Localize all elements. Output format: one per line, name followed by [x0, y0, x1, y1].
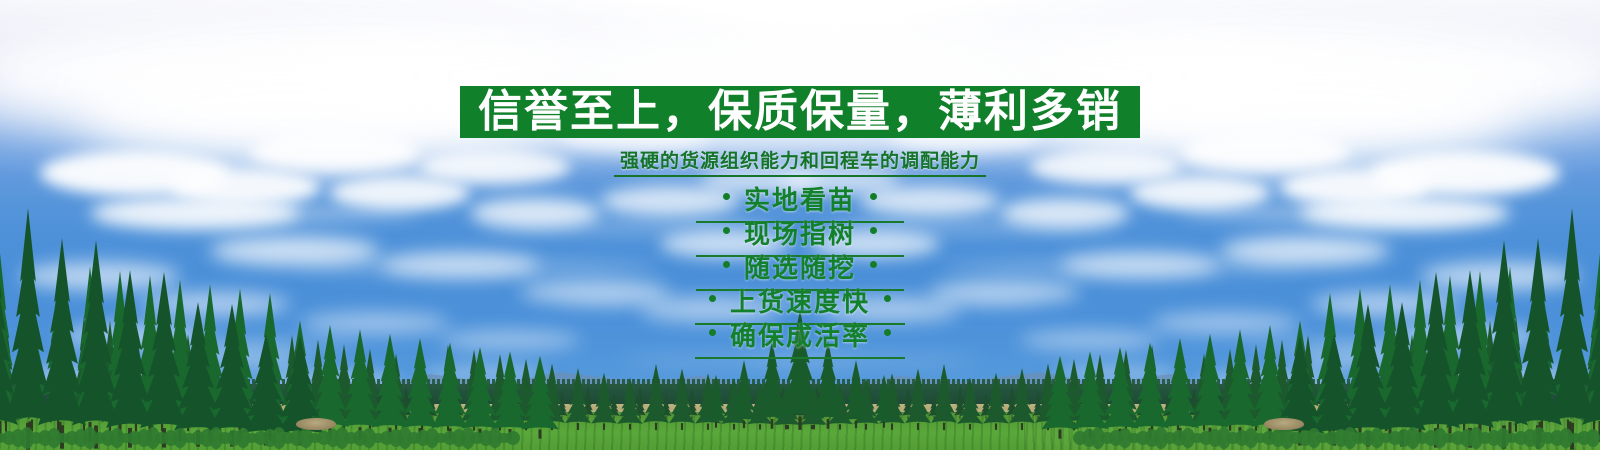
bullet-dot-icon [884, 295, 891, 302]
feature-label: 上货速度快 [730, 282, 870, 319]
bullet-dot-icon [723, 227, 730, 234]
feature-label: 确保成活率 [730, 316, 870, 353]
feature-row[interactable]: 随选随挖 [0, 248, 1600, 282]
promo-banner: 信誉至上，保质保量，薄利多销 强硬的货源组织能力和回程车的调配能力 实地看苗现场… [0, 0, 1600, 450]
bullet-dot-icon [870, 193, 877, 200]
dirt-mound-right [1264, 418, 1304, 430]
bullet-dot-icon [884, 329, 891, 336]
bullet-dot-icon [870, 261, 877, 268]
feature-list: 实地看苗现场指树随选随挖上货速度快确保成活率 [0, 180, 1600, 350]
feature-row[interactable]: 确保成活率 [0, 316, 1600, 350]
bullet-dot-icon [709, 295, 716, 302]
bullet-dot-icon [870, 227, 877, 234]
feature-underline: 确保成活率 [695, 316, 905, 359]
dirt-mound-left [296, 418, 336, 430]
headline-banner: 信誉至上，保质保量，薄利多销 [460, 86, 1140, 138]
feature-label: 随选随挖 [744, 248, 856, 285]
feature-row[interactable]: 上货速度快 [0, 282, 1600, 316]
bullet-dot-icon [723, 193, 730, 200]
subtitle-text: 强硬的货源组织能力和回程车的调配能力 [614, 146, 986, 177]
subtitle-row: 强硬的货源组织能力和回程车的调配能力 [0, 146, 1600, 177]
headline-text: 信誉至上，保质保量，薄利多销 [478, 90, 1122, 134]
bullet-dot-icon [723, 261, 730, 268]
feature-label: 现场指树 [744, 214, 856, 251]
feature-row[interactable]: 实地看苗 [0, 180, 1600, 214]
feature-label: 实地看苗 [744, 180, 856, 217]
feature-row[interactable]: 现场指树 [0, 214, 1600, 248]
bullet-dot-icon [709, 329, 716, 336]
